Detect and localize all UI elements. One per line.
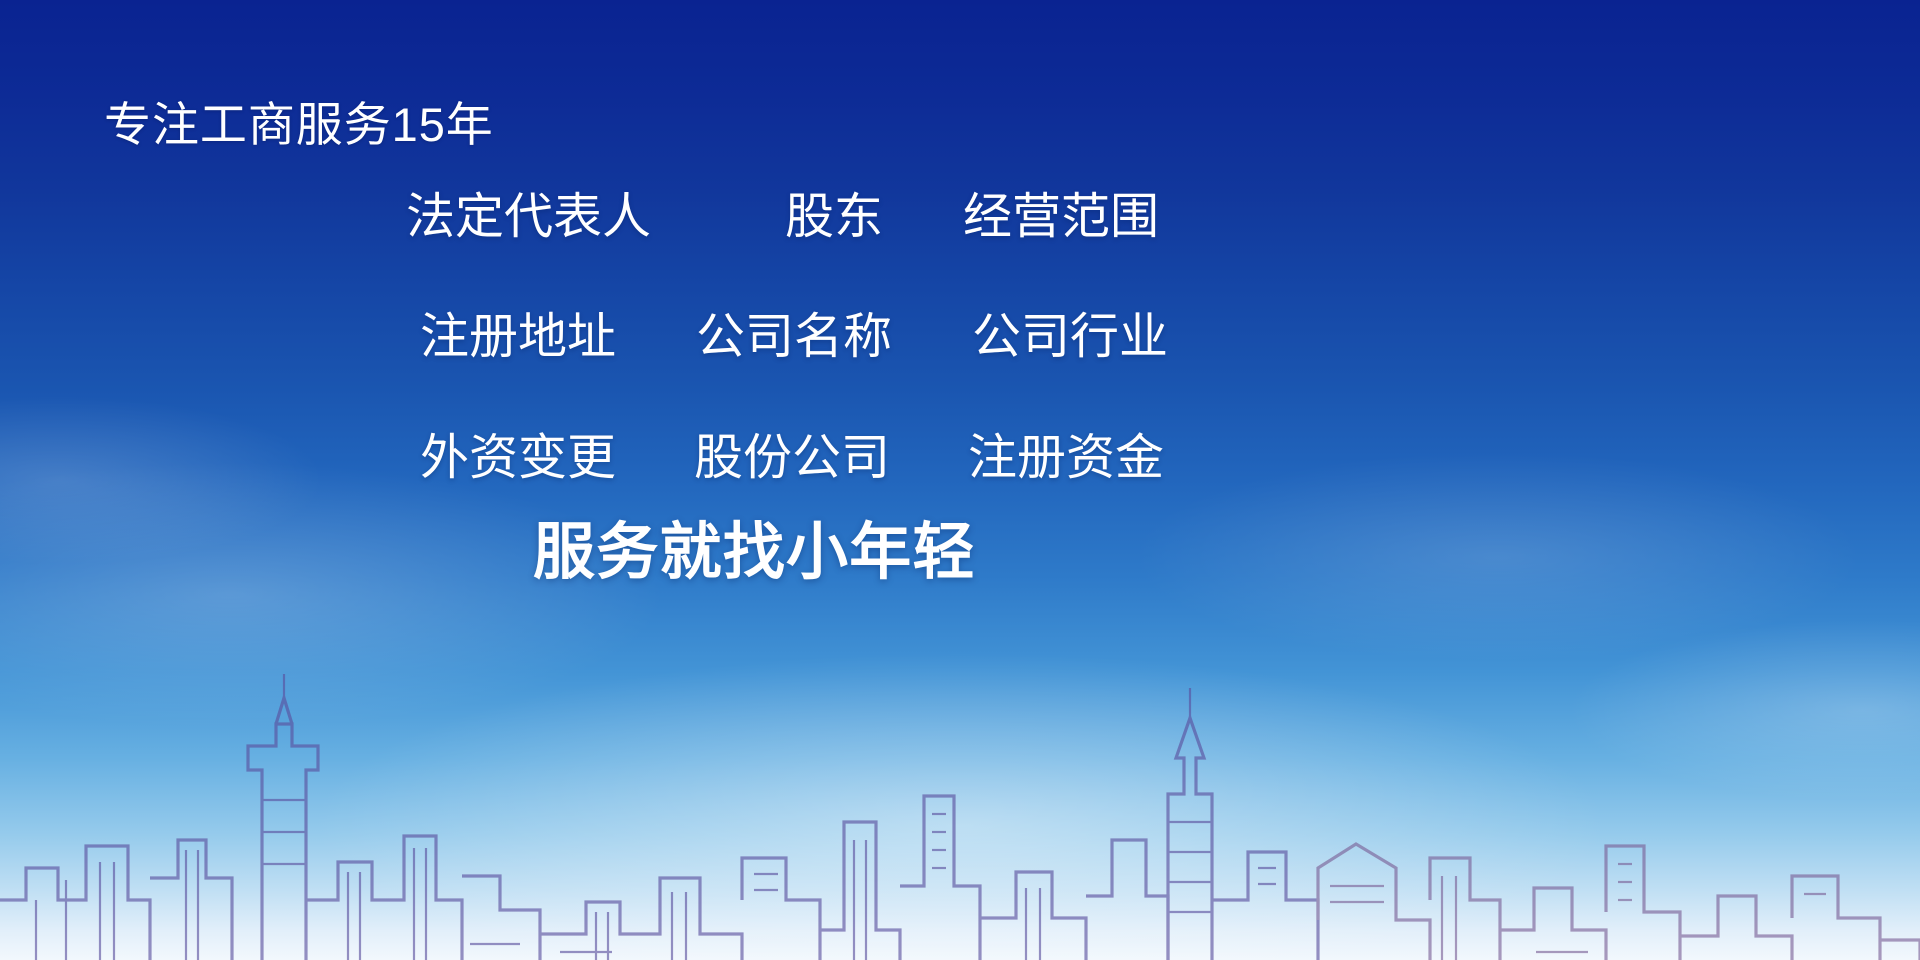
- tagline: 服务就找小年轻: [533, 519, 976, 587]
- keyword-legal-representative[interactable]: 法定代表人: [406, 191, 651, 245]
- page-title: 专注工商服务15年: [104, 99, 494, 151]
- keyword-registered-capital[interactable]: 注册资金: [968, 432, 1164, 486]
- keyword-shareholder[interactable]: 股东: [785, 191, 883, 245]
- keyword-joint-stock-company[interactable]: 股份公司: [694, 432, 890, 486]
- keyword-registered-address[interactable]: 注册地址: [420, 311, 616, 365]
- keyword-foreign-investment-change[interactable]: 外资变更: [420, 432, 616, 486]
- keyword-row-3: 外资变更 股份公司 注册资金: [420, 432, 1164, 486]
- keyword-company-name[interactable]: 公司名称: [696, 311, 892, 365]
- city-skyline-lineart: [0, 600, 1920, 960]
- promo-banner: 专注工商服务15年 法定代表人 股东 经营范围 注册地址 公司名称 公司行业 外…: [0, 0, 1920, 960]
- keyword-company-industry[interactable]: 公司行业: [972, 311, 1168, 365]
- keyword-business-scope[interactable]: 经营范围: [963, 191, 1159, 245]
- keyword-row-1: 法定代表人 股东 经营范围: [406, 191, 1159, 245]
- keyword-row-2: 注册地址 公司名称 公司行业: [420, 311, 1168, 365]
